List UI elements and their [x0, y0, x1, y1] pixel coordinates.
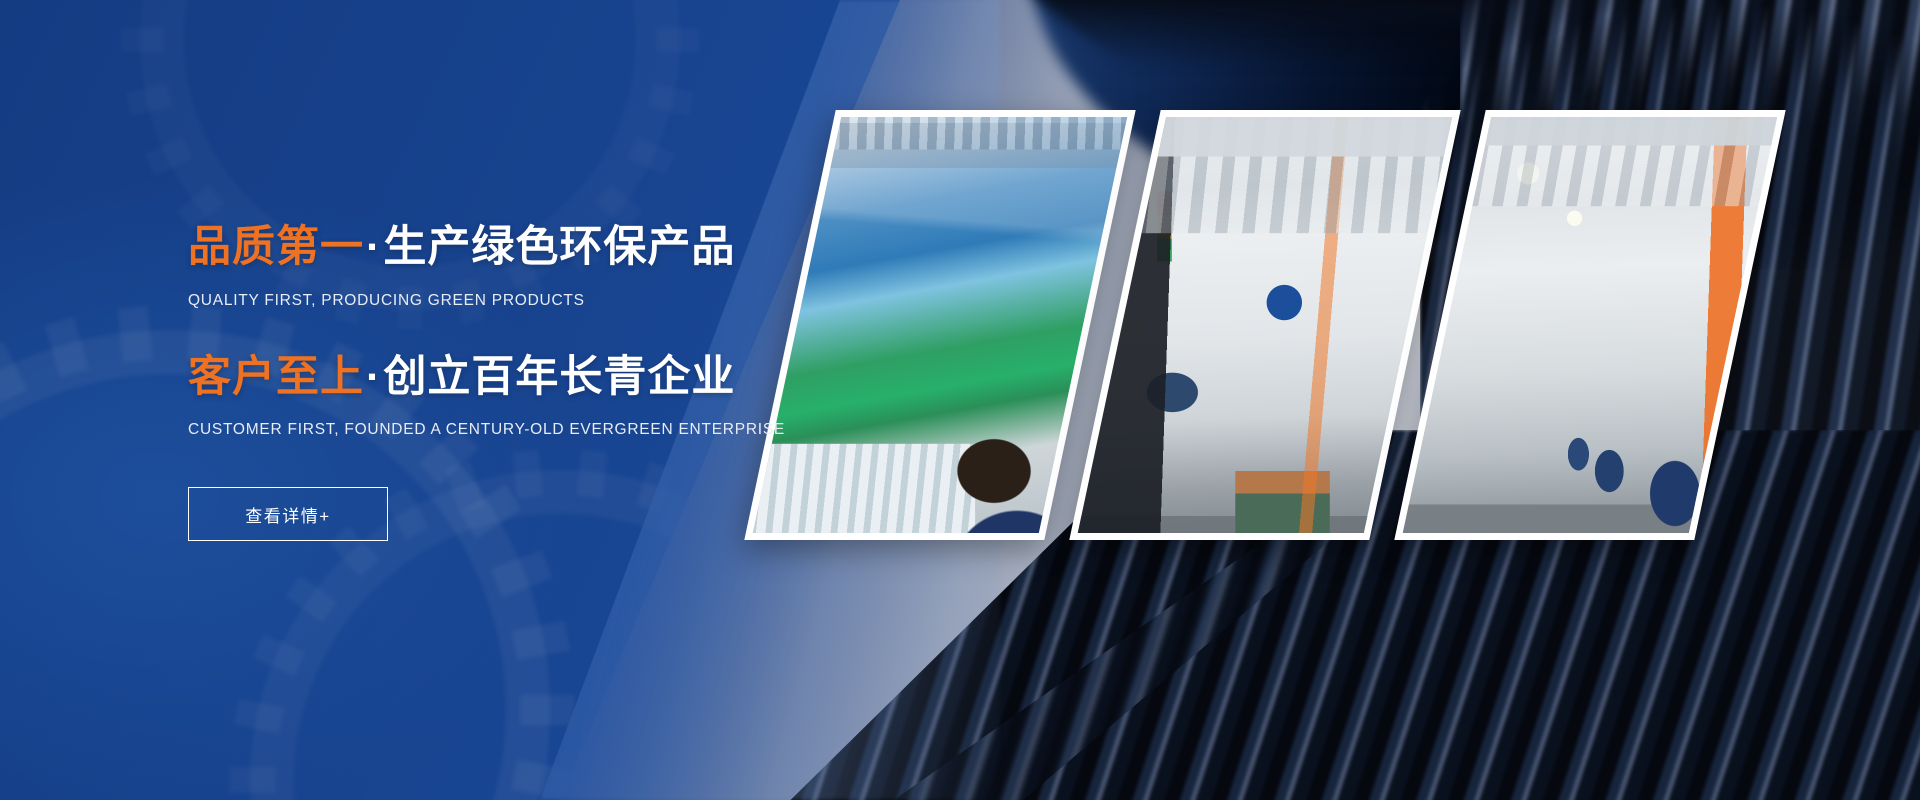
subtitle-primary: QUALITY FIRST, PRODUCING GREEN PRODUCTS — [188, 292, 828, 310]
headline-primary-rest: 生产绿色环保产品 — [383, 223, 735, 271]
photo-cnc-machining-centre — [1078, 117, 1452, 533]
headline-spacer — [188, 310, 828, 352]
headline-secondary: 客户至上·创立百年长青企业 — [188, 352, 828, 403]
hero-text-block: 品质第一·生产绿色环保产品 QUALITY FIRST, PRODUCING G… — [188, 222, 828, 541]
headline-secondary-separator: · — [364, 353, 383, 401]
photo-factory-corridor — [1403, 117, 1777, 533]
photo-card[interactable] — [1394, 110, 1785, 540]
headline-secondary-highlight: 客户至上 — [188, 353, 364, 401]
hero-banner: 品质第一·生产绿色环保产品 QUALITY FIRST, PRODUCING G… — [0, 0, 1920, 800]
subtitle-secondary: CUSTOMER FIRST, FOUNDED A CENTURY-OLD EV… — [188, 421, 828, 439]
view-details-button[interactable]: 查看详情+ — [188, 487, 388, 541]
headline-primary-separator: · — [364, 223, 383, 271]
photo-card[interactable] — [1069, 110, 1460, 540]
headline-secondary-rest: 创立百年长青企业 — [383, 353, 735, 401]
headline-primary-highlight: 品质第一 — [188, 223, 364, 271]
headline-primary: 品质第一·生产绿色环保产品 — [188, 222, 828, 273]
